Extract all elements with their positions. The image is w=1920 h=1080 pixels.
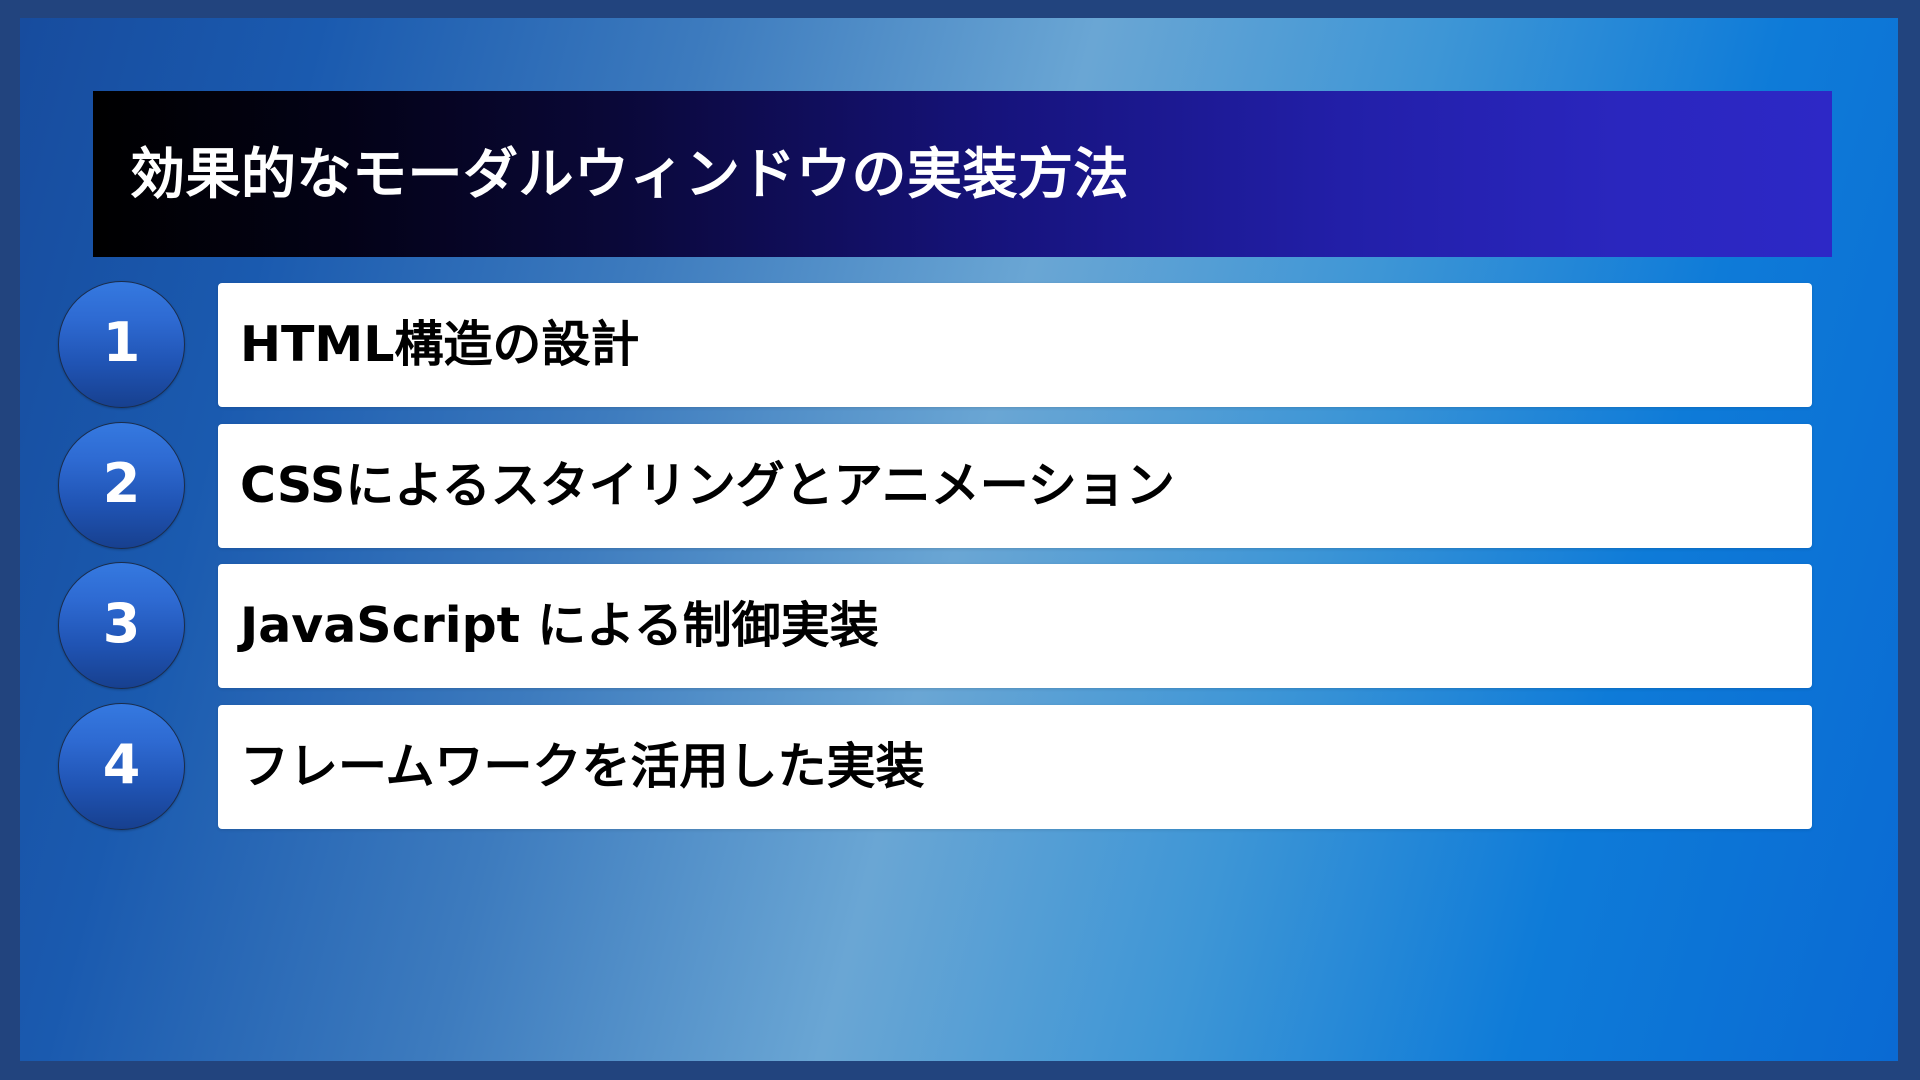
- step-number-label: 1: [103, 316, 141, 370]
- step-card[interactable]: フレームワークを活用した実装: [218, 705, 1812, 829]
- step-number-label: 3: [103, 597, 141, 651]
- step-card-label: フレームワークを活用した実装: [240, 739, 925, 795]
- step-number-label: 2: [103, 457, 141, 511]
- slide-frame: 効果的なモーダルウィンドウの実装方法 1 HTML構造の設計 2 CSSによるス…: [0, 0, 1920, 1080]
- step-number-badge: 4: [58, 703, 185, 830]
- step-number-badge: 3: [58, 562, 185, 689]
- slide-background: 効果的なモーダルウィンドウの実装方法 1 HTML構造の設計 2 CSSによるス…: [20, 18, 1898, 1061]
- step-number-badge: 1: [58, 281, 185, 408]
- page-title: 効果的なモーダルウィンドウの実装方法: [130, 144, 1129, 205]
- step-number-label: 4: [103, 738, 141, 792]
- step-card[interactable]: CSSによるスタイリングとアニメーション: [218, 424, 1812, 548]
- step-number-badge: 2: [58, 422, 185, 549]
- list-item[interactable]: 4 フレームワークを活用した実装: [20, 687, 1898, 892]
- step-card-label: CSSによるスタイリングとアニメーション: [240, 458, 1175, 514]
- step-card[interactable]: JavaScript による制御実装: [218, 564, 1812, 688]
- title-bar: 効果的なモーダルウィンドウの実装方法: [93, 91, 1832, 257]
- step-card-label: HTML構造の設計: [240, 317, 639, 373]
- step-card[interactable]: HTML構造の設計: [218, 283, 1812, 407]
- step-card-label: JavaScript による制御実装: [240, 598, 879, 654]
